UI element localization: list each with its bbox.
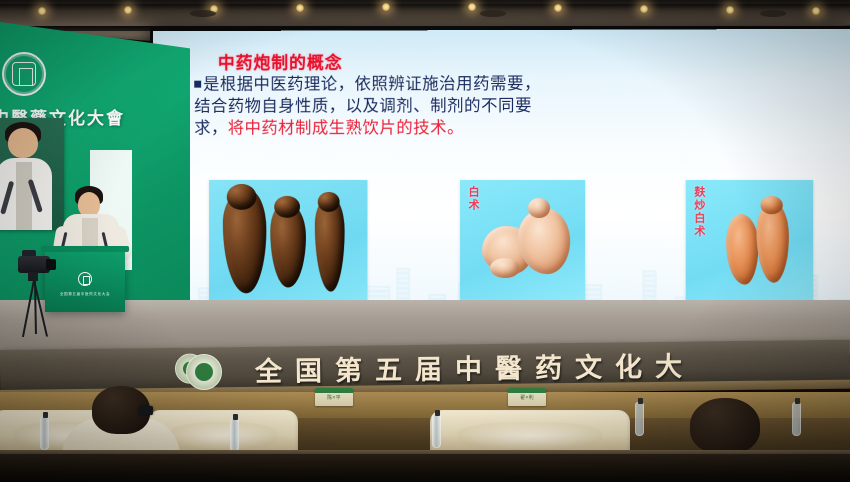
nameplate-right-text: 翟×利	[508, 394, 546, 401]
photo-label-bran-fried-baizhu: 麸炒白术	[693, 186, 704, 238]
water-bottle-5	[792, 402, 801, 436]
presentation-slide: 中药炮制的概念 是根据中医药理论，依照辨证施治用药需要， 结合药物自身性质，以及…	[153, 29, 850, 326]
nameplate-left: 陈×平	[315, 388, 353, 406]
slide-body-text: 是根据中医药理论，依照辨证施治用药需要， 结合药物自身性质，以及调剂、制剂的不同…	[194, 73, 814, 139]
foreground-seal-emblem-icon	[186, 354, 222, 390]
nameplate-right: 翟×利	[508, 388, 546, 406]
photo-baizhu-slices: 白术	[460, 180, 585, 300]
podium-seal-logo-icon	[78, 272, 92, 286]
feed-speaker-head	[8, 128, 38, 158]
podium: 全国第五届中医药文化大会	[45, 250, 125, 312]
audience-member-head-2	[690, 398, 760, 454]
slide-body-line-1: 是根据中医药理论，依照辨证施治用药需要，	[194, 73, 814, 96]
slide-body-line-3-plain: 求，	[194, 119, 228, 137]
slide-title: 中药炮制的概念	[218, 48, 343, 73]
photo-label-baizhu: 白术	[467, 186, 478, 212]
spotlight-icon	[812, 7, 820, 15]
nameplate-right-bar	[508, 388, 546, 393]
slide-body-line-3: 求，将中药材制成生熟饮片的技术。	[194, 117, 814, 139]
desk-front-panel	[0, 454, 850, 482]
water-bottle-3	[432, 414, 441, 448]
nameplate-left-text: 陈×平	[315, 394, 353, 401]
conference-seal-logo-icon	[2, 52, 46, 96]
podium-text: 全国第五届中医药文化大会	[53, 292, 117, 297]
slide-body-line-2: 结合药物自身性质，以及调剂、制剂的不同要	[194, 95, 814, 118]
foreground-audience-row: 陈×平 翟×利	[0, 392, 850, 482]
square-bullet-icon	[194, 81, 201, 88]
spotlight-icon	[38, 7, 46, 15]
feed-speaker-inner-top	[16, 162, 32, 230]
water-bottle-4	[635, 402, 644, 436]
slide-photo-row: 白术 麸炒白术	[153, 180, 850, 311]
slide-body-line-3-accent: 将中药材制成生熟饮片的技术。	[228, 119, 464, 137]
water-bottle-2	[230, 418, 239, 452]
camera-lens-icon	[46, 259, 56, 270]
photo-raw-atractylodes-roots	[209, 180, 367, 308]
water-bottle-1	[40, 416, 49, 450]
nameplate-left-bar	[315, 388, 353, 393]
ceiling-vent	[190, 10, 216, 17]
podium-top-ledge	[41, 246, 129, 252]
ceiling-vent	[760, 10, 786, 17]
projection-screen: 中药炮制的概念 是根据中医药理论，依照辨证施治用药需要， 结合药物自身性质，以及…	[150, 26, 850, 326]
slide-body-line-1-text: 是根据中医药理论，依照辨证施治用药需要，	[203, 75, 541, 94]
conference-photo-scene: 中药炮制的概念 是根据中医药理论，依照辨证施治用药需要， 结合药物自身性质，以及…	[0, 0, 850, 482]
ceiling-vent	[480, 10, 506, 17]
smartphone-icon	[139, 406, 153, 415]
photo-bran-fried-baizhu: 麸炒白术	[686, 180, 813, 303]
